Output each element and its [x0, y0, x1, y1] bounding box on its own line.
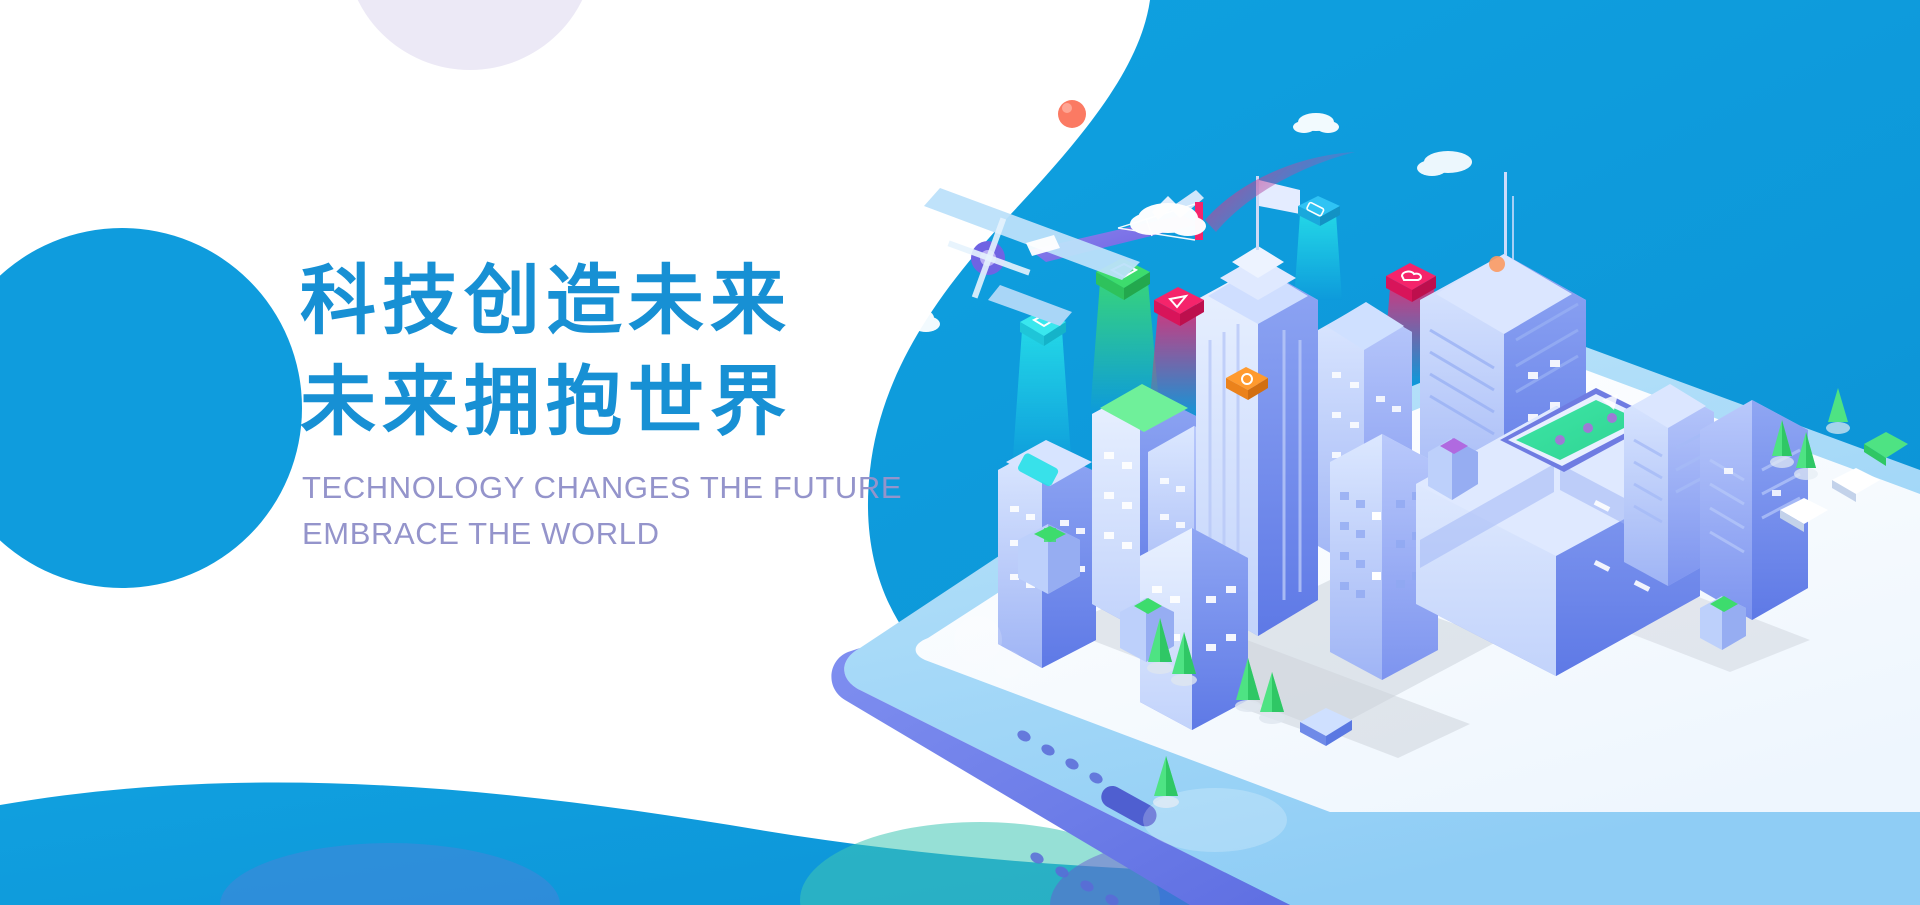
- cloud-3: [1293, 113, 1339, 133]
- cloud-4: [1417, 151, 1472, 176]
- small-white-dot: [954, 616, 1002, 664]
- page-subtitle: TECHNOLOGY CHANGES THE FUTURE EMBRACE TH…: [302, 465, 942, 557]
- cloud-1: [1130, 203, 1206, 236]
- red-balloon: [1058, 100, 1086, 128]
- cyan-beam-2: [1294, 214, 1342, 300]
- subtitle-line-1: TECHNOLOGY CHANGES THE FUTURE: [302, 465, 942, 511]
- headline-line-1: 科技创造未来: [300, 250, 920, 351]
- page-title: 科技创造未来 未来拥抱世界: [300, 250, 920, 452]
- banner-stage: 科技创造未来 未来拥抱世界 TECHNOLOGY CHANGES THE FUT…: [0, 0, 1920, 905]
- small-white-dot-2: [994, 650, 1022, 678]
- antenna: [1504, 172, 1507, 264]
- small-orange-dot: [1489, 256, 1505, 272]
- isometric-city-illustration: [0, 0, 1920, 905]
- subtitle-line-2: EMBRACE THE WORLD: [302, 511, 942, 557]
- headline-line-2: 未来拥抱世界: [300, 351, 920, 452]
- red-balloon-highlight: [1062, 103, 1072, 113]
